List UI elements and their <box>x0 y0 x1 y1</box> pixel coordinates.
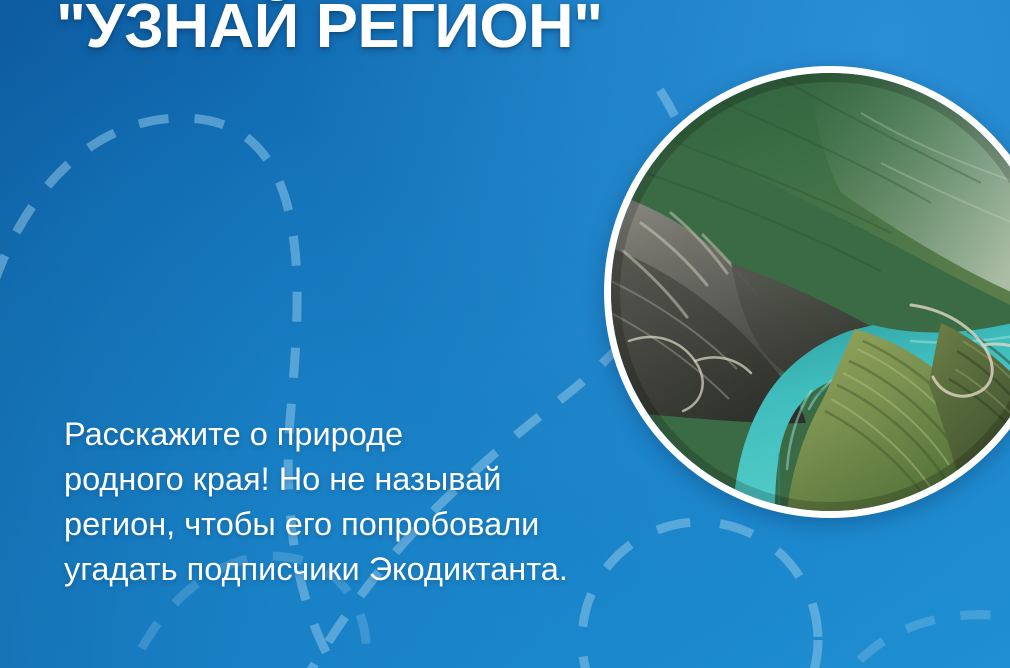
body-line-2: родного края! Но не называй <box>64 457 684 502</box>
body-line-3: регион, чтобы его попробовали <box>64 502 684 547</box>
body-text: Расскажите о природе родного края! Но не… <box>64 412 684 591</box>
canyon-photo-illustration <box>611 73 1010 511</box>
body-line-1: Расскажите о природе <box>64 412 684 457</box>
body-line-4: угадать подписчики Экодиктанта. <box>64 547 684 592</box>
poster-canvas: "УЗНАЙ РЕГИОН" Расскажите о природе родн… <box>0 0 1010 668</box>
page-title: "УЗНАЙ РЕГИОН" <box>56 0 603 59</box>
